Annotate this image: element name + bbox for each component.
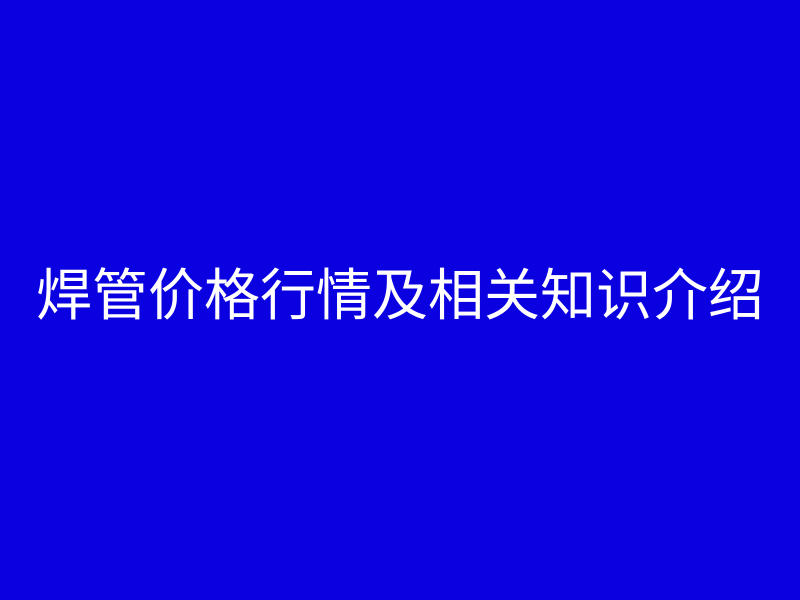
page-title: 焊管价格行情及相关知识介绍 (36, 269, 764, 325)
headline-block: 焊管价格行情及相关知识介绍 (0, 0, 800, 600)
slide-canvas: 焊管价格行情及相关知识介绍 (0, 0, 800, 600)
